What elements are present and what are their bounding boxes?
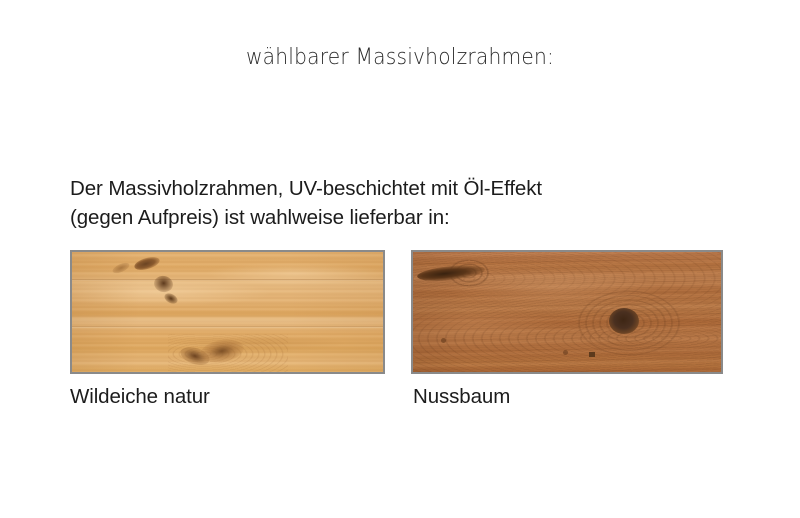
product-finish-options-page: wählbarer Massivholzrahmen: Der Massivho…	[0, 0, 800, 518]
nussbaum-texture	[413, 252, 721, 372]
wood-swatch-row	[0, 250, 800, 380]
oak-plank-seam-top	[72, 279, 383, 281]
wildeiche-texture	[72, 252, 383, 372]
walnut-spot-1	[589, 352, 595, 357]
page-title: wählbarer Massivholzrahmen:	[32, 45, 768, 70]
oak-plank-seam-bottom	[72, 326, 383, 328]
walnut-spot-2	[441, 338, 446, 343]
walnut-spot-3	[563, 350, 568, 355]
description-line-2: (gegen Aufpreis) ist wahlweise lieferbar…	[70, 203, 710, 232]
swatch-label-nussbaum: Nussbaum	[413, 385, 510, 409]
description-line-1: Der Massivholzrahmen, UV-beschichtet mit…	[70, 174, 710, 203]
swatch-label-wildeiche-natur: Wildeiche natur	[70, 385, 210, 409]
walnut-knot-main	[609, 308, 639, 334]
wood-swatch-wildeiche-natur[interactable]	[70, 250, 385, 374]
wood-swatch-nussbaum[interactable]	[411, 250, 723, 374]
description-text: Der Massivholzrahmen, UV-beschichtet mit…	[70, 174, 710, 232]
